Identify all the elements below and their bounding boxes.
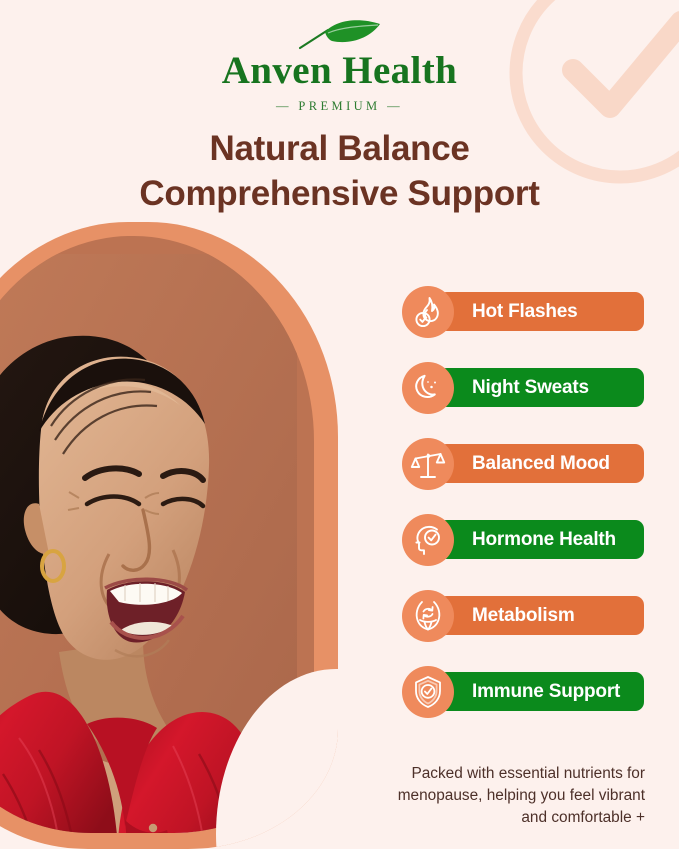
leaf-icon bbox=[0, 18, 679, 52]
scale-icon bbox=[402, 438, 454, 490]
page-title: Natural Balance Comprehensive Support bbox=[0, 127, 679, 216]
benefit-pill: Hormone Health bbox=[438, 520, 644, 559]
benefit-label: Night Sweats bbox=[472, 377, 589, 399]
benefit-pill: Immune Support bbox=[438, 672, 644, 711]
headline-line-2: Comprehensive Support bbox=[0, 172, 679, 216]
shield-check-icon bbox=[402, 666, 454, 718]
benefit-label: Hot Flashes bbox=[472, 301, 578, 323]
headline-line-1: Natural Balance bbox=[209, 129, 469, 168]
benefit-item-immune-support[interactable]: Immune Support bbox=[402, 669, 648, 714]
caption-line-1: Packed with essential nutrients for bbox=[345, 763, 645, 785]
benefit-item-balanced-mood[interactable]: Balanced Mood bbox=[402, 441, 648, 486]
body-refresh-icon bbox=[402, 590, 454, 642]
benefit-pill: Balanced Mood bbox=[438, 444, 644, 483]
benefit-item-hot-flashes[interactable]: Hot Flashes bbox=[402, 289, 648, 334]
benefit-label: Metabolism bbox=[472, 605, 575, 627]
footer-caption: Packed with essential nutrients for meno… bbox=[345, 763, 645, 829]
head-check-icon bbox=[402, 514, 454, 566]
benefit-label: Balanced Mood bbox=[472, 453, 610, 475]
photo-blob-outer bbox=[0, 222, 338, 849]
benefit-pill: Night Sweats bbox=[438, 368, 644, 407]
benefit-item-metabolism[interactable]: Metabolism bbox=[402, 593, 648, 638]
benefit-pill: Hot Flashes bbox=[438, 292, 644, 331]
benefit-item-night-sweats[interactable]: Night Sweats bbox=[402, 365, 648, 410]
brand-tagline: — PREMIUM — bbox=[0, 99, 679, 114]
benefit-item-hormone-health[interactable]: Hormone Health bbox=[402, 517, 648, 562]
benefits-list: Hot Flashes Night Sweats bbox=[402, 289, 648, 714]
brand-logo: Anven Health — PREMIUM — bbox=[0, 18, 679, 114]
benefit-label: Immune Support bbox=[472, 681, 620, 703]
caption-line-3: and comfortable + bbox=[345, 807, 645, 829]
hero-photo bbox=[0, 222, 338, 849]
brand-name: Anven Health bbox=[0, 51, 679, 90]
product-infographic: Anven Health — PREMIUM — Natural Balance… bbox=[0, 0, 679, 849]
moon-icon bbox=[402, 362, 454, 414]
benefit-pill: Metabolism bbox=[438, 596, 644, 635]
caption-line-2: menopause, helping you feel vibrant bbox=[345, 785, 645, 807]
benefit-label: Hormone Health bbox=[472, 529, 616, 551]
flame-check-icon bbox=[402, 286, 454, 338]
